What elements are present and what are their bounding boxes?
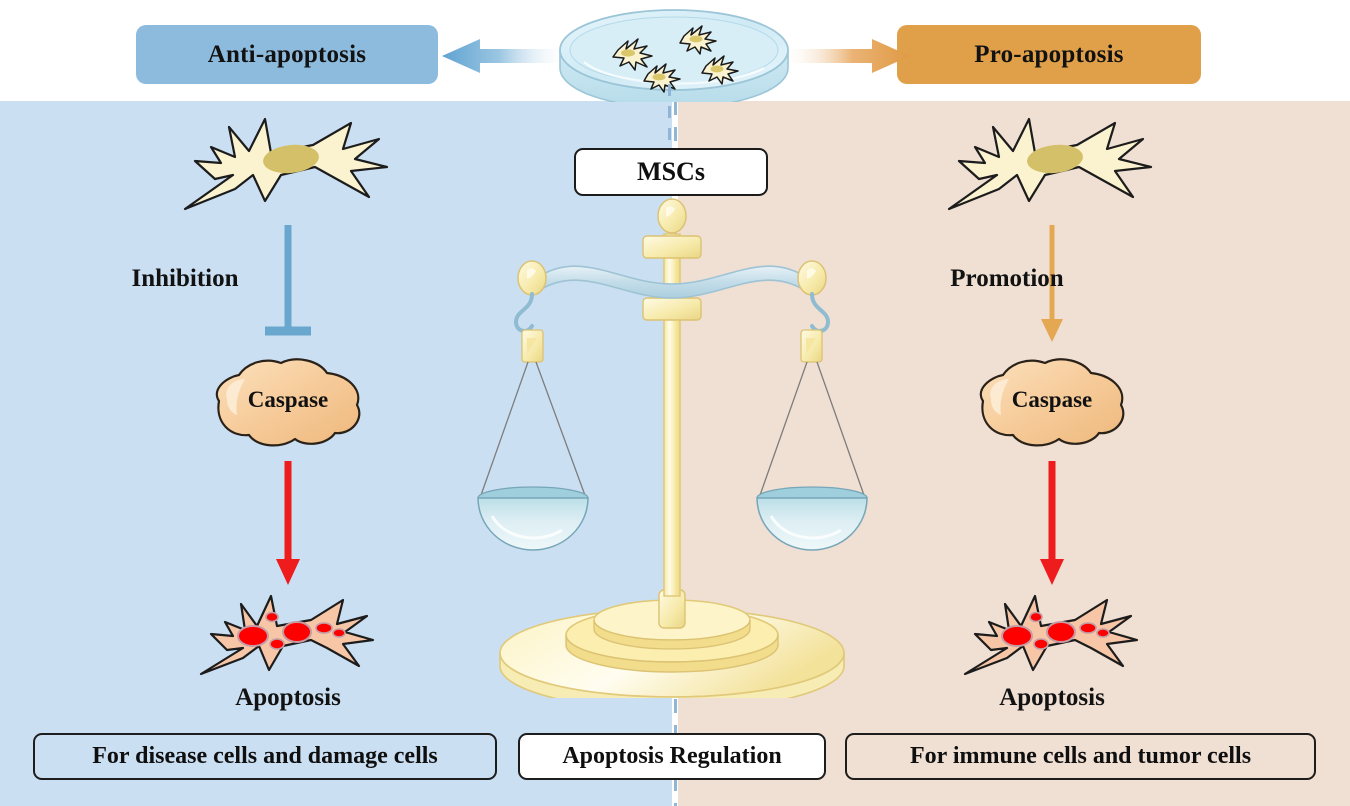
apoptotic-cell-icon [193, 586, 383, 686]
caspase-label: Caspase [965, 387, 1140, 413]
msc-cell-icon [173, 105, 403, 225]
msc-connector-line [668, 84, 671, 154]
left-footer-box[interactable]: For disease cells and damage cells [33, 733, 497, 780]
msc-cell-icon [937, 105, 1167, 225]
caspase-blob-icon: Caspase [965, 349, 1140, 459]
promotion-label: Promotion [912, 265, 1102, 293]
right-footer-box[interactable]: For immune cells and tumor cells [845, 733, 1316, 780]
diagram-canvas: Anti-apoptosis Pro-apoptosis [0, 0, 1350, 806]
left-branch: Inhibition Caspase [88, 105, 488, 712]
petri-dish-icon [556, 2, 792, 102]
arrow-right-icon [782, 37, 912, 75]
anti-apoptosis-pill[interactable]: Anti-apoptosis [136, 25, 438, 84]
apoptosis-label-left: Apoptosis [88, 684, 488, 712]
left-footer-label: For disease cells and damage cells [92, 743, 438, 770]
arrow-down-red-icon [268, 461, 308, 586]
apoptotic-cell-icon [957, 586, 1147, 686]
arrow-down-red-icon [1032, 461, 1072, 586]
right-footer-label: For immune cells and tumor cells [910, 743, 1251, 770]
caspase-label: Caspase [201, 387, 376, 413]
center-footer-box[interactable]: Apoptosis Regulation [518, 733, 826, 780]
caspase-blob-icon: Caspase [201, 349, 376, 459]
pro-apoptosis-pill[interactable]: Pro-apoptosis [897, 25, 1201, 84]
anti-apoptosis-pill-label: Anti-apoptosis [208, 41, 366, 69]
apoptosis-label-right: Apoptosis [852, 684, 1252, 712]
pro-apoptosis-pill-label: Pro-apoptosis [974, 41, 1123, 69]
msc-label: MSCs [637, 157, 705, 187]
msc-label-box[interactable]: MSCs [574, 148, 768, 196]
arrow-left-icon [440, 37, 570, 75]
balance-scale-icon [470, 198, 880, 698]
center-footer-label: Apoptosis Regulation [562, 743, 781, 770]
right-branch: Promotion Caspase [852, 105, 1252, 712]
inhibition-label: Inhibition [100, 265, 270, 293]
